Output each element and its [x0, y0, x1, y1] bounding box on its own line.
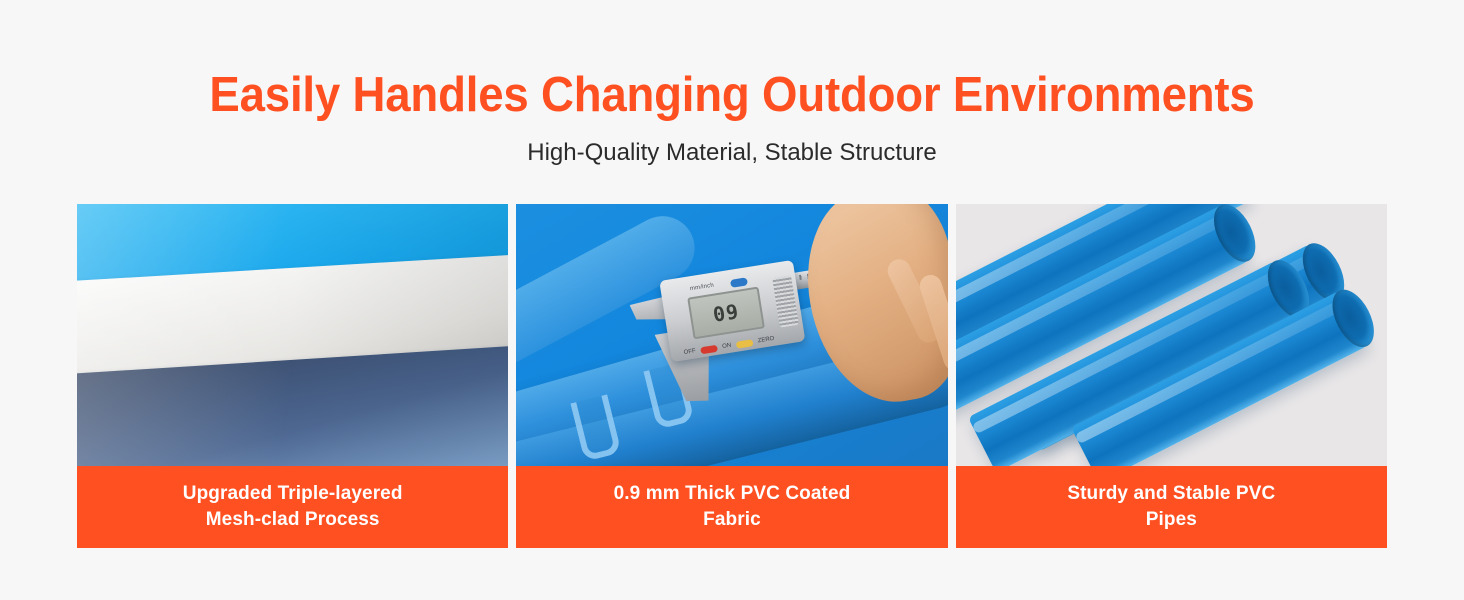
feature-image-pvc-coated-fabric: mm/inch 09 OFF ON ZERO — [516, 204, 947, 466]
caliper-body: mm/inch 09 OFF ON ZERO — [659, 260, 805, 362]
caliper-unit-label: mm/inch — [689, 283, 714, 293]
caliper-zero-button[interactable] — [735, 339, 753, 349]
caption-line-2: Fabric — [614, 507, 851, 533]
caliper-on-label: ON — [722, 343, 732, 350]
feature-card-triple-layered-mesh[interactable]: Upgraded Triple-layered Mesh-clad Proces… — [77, 204, 508, 548]
feature-image-sturdy-pvc-pipes — [956, 204, 1387, 466]
caliper-lcd-display: 09 — [687, 287, 764, 339]
page-subtitle: High-Quality Material, Stable Structure — [0, 122, 1464, 168]
feature-card-pvc-coated-fabric[interactable]: mm/inch 09 OFF ON ZERO — [516, 204, 947, 548]
feature-caption-pvc-coated-fabric: 0.9 mm Thick PVC Coated Fabric — [516, 466, 947, 548]
feature-caption-triple-layered-mesh: Upgraded Triple-layered Mesh-clad Proces… — [77, 466, 508, 548]
feature-card-row: Upgraded Triple-layered Mesh-clad Proces… — [77, 204, 1387, 548]
feature-card-sturdy-pvc-pipes[interactable]: Sturdy and Stable PVC Pipes — [956, 204, 1387, 548]
caption-line-1: Sturdy and Stable PVC — [1067, 481, 1275, 507]
caliper-off-button[interactable] — [700, 345, 718, 355]
caption-line-1: Upgraded Triple-layered — [183, 481, 403, 507]
page-title: Easily Handles Changing Outdoor Environm… — [51, 0, 1413, 122]
caliper-unit-button[interactable] — [729, 277, 747, 288]
caption-line-2: Mesh-clad Process — [183, 507, 403, 533]
feature-caption-sturdy-pvc-pipes: Sturdy and Stable PVC Pipes — [956, 466, 1387, 548]
banner-header: Easily Handles Changing Outdoor Environm… — [0, 0, 1464, 168]
product-feature-banner: Easily Handles Changing Outdoor Environm… — [0, 0, 1464, 600]
caption-line-2: Pipes — [1067, 507, 1275, 533]
caliper-zero-label: ZERO — [757, 336, 774, 345]
caliper-measurement-value: 09 — [711, 301, 740, 325]
caliper-thumbwheel[interactable] — [772, 275, 799, 328]
caliper-off-label: OFF — [683, 349, 696, 357]
feature-image-triple-layered-mesh — [77, 204, 508, 466]
caption-line-1: 0.9 mm Thick PVC Coated — [614, 481, 851, 507]
